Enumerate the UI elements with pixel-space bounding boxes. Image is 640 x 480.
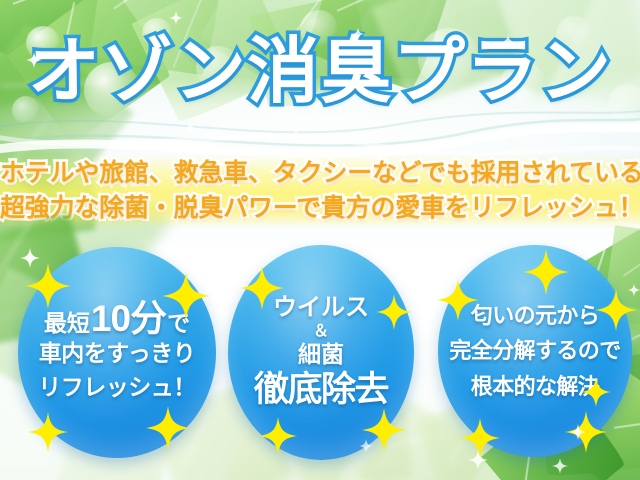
circle-virus-line-2: 細菌: [298, 341, 344, 368]
page-title: オゾン消臭プラン: [0, 36, 640, 108]
feature-circle-odor: 匂いの元から 完全分解するので 根本的な解決: [438, 245, 632, 457]
circle-virus-line-1: ウイルス: [273, 295, 369, 322]
circle-minutes-suffix: で: [167, 312, 190, 335]
feature-circle-minutes: 最短 10分 で 車内をすっきり リフレッシュ！: [18, 247, 216, 458]
circle-minutes-emphasis: 10分: [91, 300, 166, 337]
circle-odor-line-3: 根本的な解決: [471, 369, 599, 405]
feature-circle-virus: ウイルス ＆ 細菌 徹底除去: [228, 245, 414, 460]
ozone-deodorizing-plan-banner: オゾン消臭プラン ホテルや旅館、救急車、タクシーなどでも採用されている 超強力な…: [0, 0, 640, 480]
circle-virus-ampersand: ＆: [313, 322, 329, 341]
circle-minutes-line-1: 最短 10分 で: [44, 300, 190, 337]
circle-minutes-line-2: 車内をすっきり: [39, 337, 196, 371]
circle-virus-emphasis: 徹底除去: [254, 371, 388, 410]
subtitle-line-2: 超強力な除菌・脱臭パワーで貴方の愛車をリフレッシュ！: [0, 196, 640, 221]
circle-odor-line-2: 完全分解するので: [449, 333, 620, 369]
sparkle-icon: [184, 122, 196, 134]
sparkle-icon: [291, 125, 302, 136]
circle-minutes-prefix: 最短: [44, 312, 90, 335]
subtitle-line-1: ホテルや旅館、救急車、タクシーなどでも採用されている: [0, 161, 640, 186]
circle-odor-line-1: 匂いの元から: [471, 298, 599, 334]
circle-minutes-line-3: リフレッシュ！: [38, 371, 196, 405]
